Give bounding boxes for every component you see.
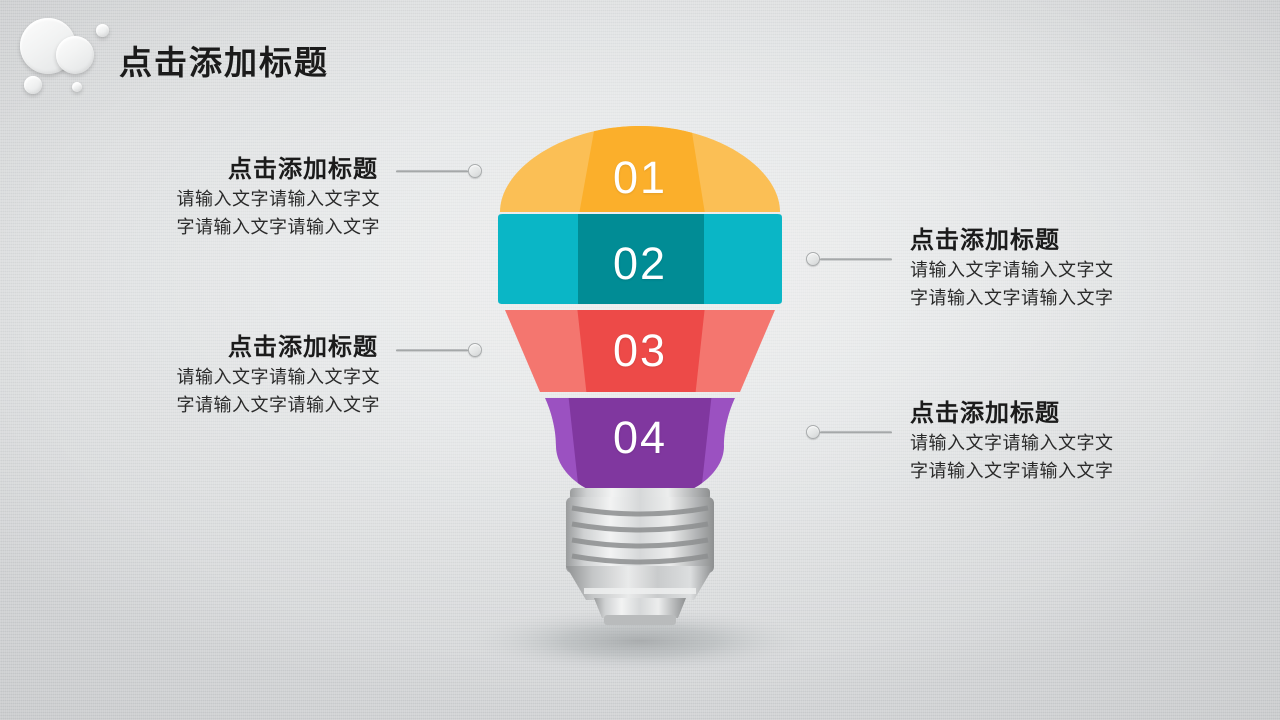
block-line-2: 字请输入文字请输入文字: [910, 457, 1240, 485]
block-line-1: 请输入文字请输入文字文: [50, 363, 380, 391]
bubble-small-2: [24, 76, 42, 94]
connector-bar: [396, 170, 468, 173]
segment-number-03: 03: [580, 325, 700, 377]
block-title: 点击添加标题: [50, 155, 380, 185]
page-title: 点击添加标题: [119, 36, 329, 84]
block-title: 点击添加标题: [50, 333, 380, 363]
connector-line-4: [806, 425, 892, 439]
segment-number-01: 01: [580, 152, 700, 204]
segment-number-04: 04: [580, 412, 700, 464]
bubbles-icon: [4, 8, 122, 108]
text-block-3: 点击添加标题 请输入文字请输入文字文 字请输入文字请输入文字: [50, 333, 380, 419]
connector-bar: [820, 431, 892, 434]
block-line-2: 字请输入文字请输入文字: [910, 284, 1240, 312]
block-line-1: 请输入文字请输入文字文: [910, 256, 1240, 284]
segment-number-02: 02: [580, 238, 700, 290]
connector-bar: [396, 349, 468, 352]
block-line-2: 字请输入文字请输入文字: [50, 391, 380, 419]
connector-dot: [468, 343, 482, 357]
bubble-large-2: [56, 36, 94, 74]
connector-dot: [468, 164, 482, 178]
text-block-2: 点击添加标题 请输入文字请输入文字文 字请输入文字请输入文字: [910, 226, 1240, 312]
block-title: 点击添加标题: [910, 399, 1240, 429]
connector-bar: [820, 258, 892, 261]
connector-dot: [806, 425, 820, 439]
connector-dot: [806, 252, 820, 266]
connector-line-3: [396, 343, 482, 357]
connector-line-1: [396, 164, 482, 178]
block-title: 点击添加标题: [910, 226, 1240, 256]
block-line-1: 请输入文字请输入文字文: [910, 429, 1240, 457]
bubble-small-3: [72, 82, 82, 92]
block-line-1: 请输入文字请输入文字文: [50, 185, 380, 213]
connector-line-2: [806, 252, 892, 266]
bubble-small-1: [96, 24, 109, 37]
text-block-4: 点击添加标题 请输入文字请输入文字文 字请输入文字请输入文字: [910, 399, 1240, 485]
block-line-2: 字请输入文字请输入文字: [50, 213, 380, 241]
text-block-1: 点击添加标题 请输入文字请输入文字文 字请输入文字请输入文字: [50, 155, 380, 241]
